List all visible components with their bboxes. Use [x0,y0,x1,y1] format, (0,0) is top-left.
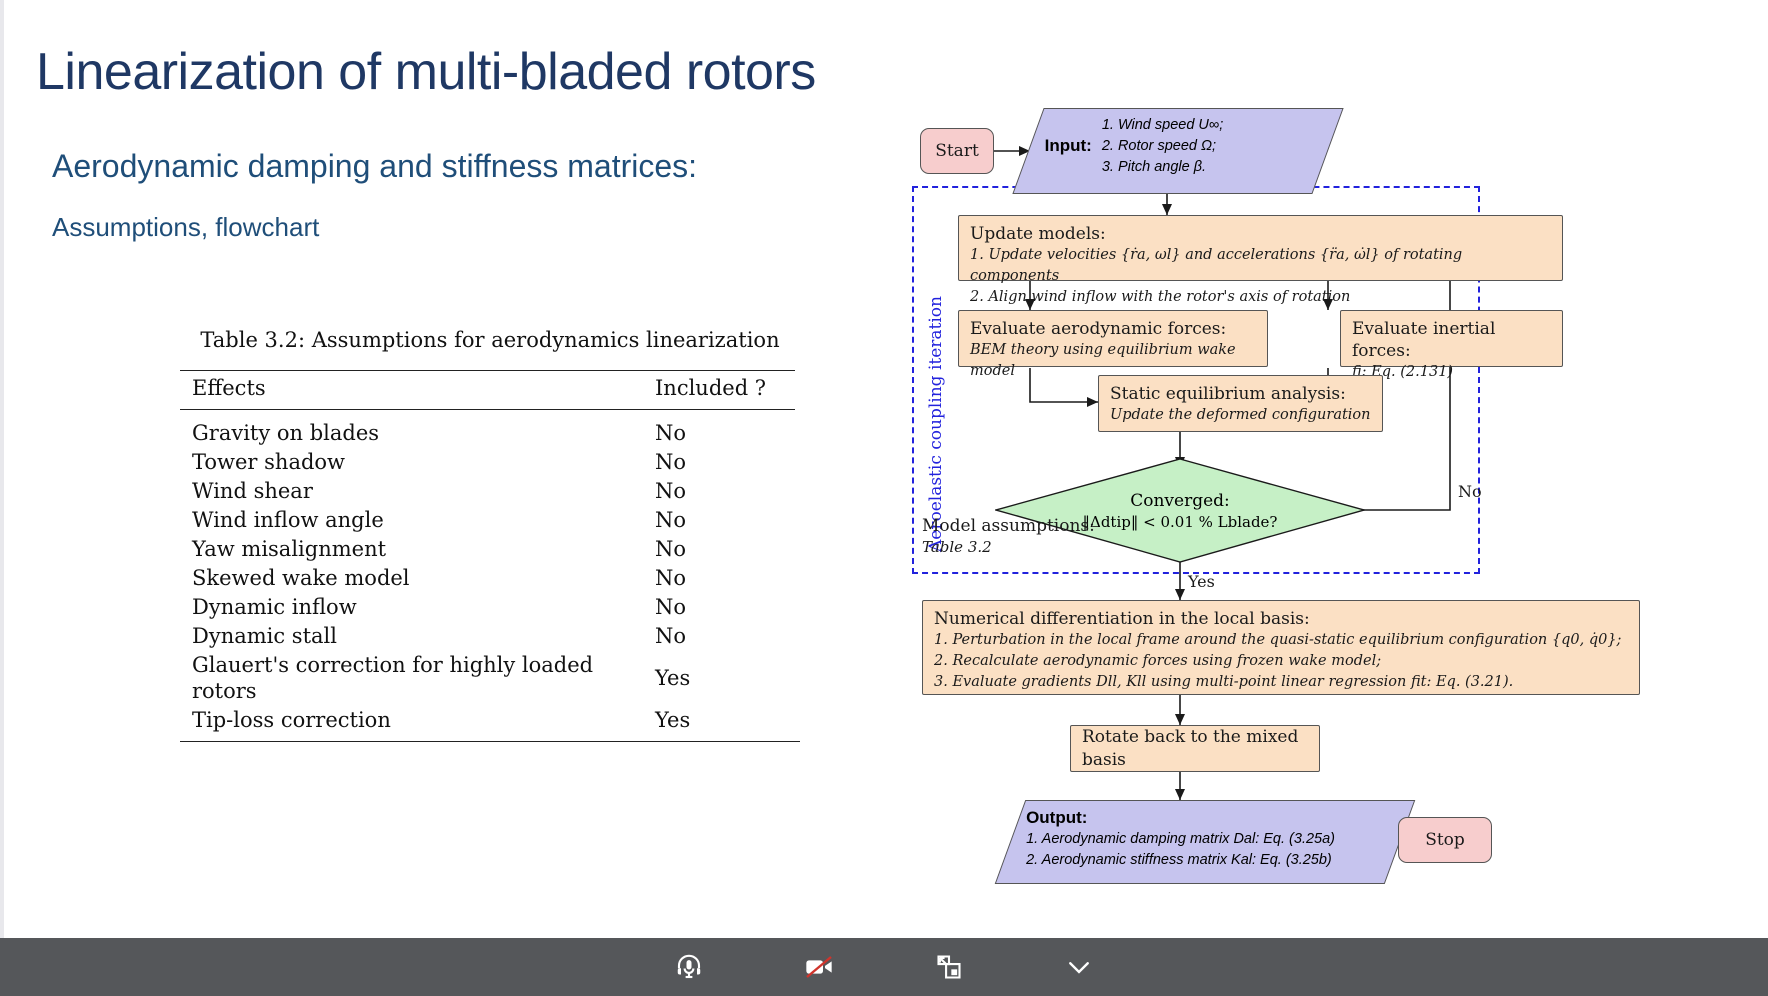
cell-effect: Wind inflow angle [180,506,655,535]
cell-included: Yes [655,651,795,706]
node-static-equilibrium-title: Static equilibrium analysis: [1110,383,1371,405]
node-numerical-differentiation-item: 1. Perturbation in the local frame aroun… [934,630,1628,651]
cell-included: No [655,477,795,506]
node-start-label: Start [935,140,979,162]
table-header-row: Effects Included ? [180,371,795,410]
cell-included: No [655,564,795,593]
table-row: Glauert's correction for highly loaded r… [180,651,795,706]
table-row: Dynamic inflow No [180,593,795,622]
node-output-item: 2. Aerodynamic stiffness matrix Kal: Eq.… [1026,850,1386,871]
cell-included: No [655,410,795,448]
column-header-included: Included ? [655,371,795,410]
model-assumptions-note: Model assumptions: Table 3.2 [922,515,1112,559]
node-update-models-item: 1. Update velocities {ṙa, ωl} and accele… [970,245,1551,287]
column-header-effects: Effects [180,371,655,410]
edge-label-yes: Yes [1188,572,1215,591]
subtitle-secondary: Assumptions, flowchart [52,212,319,243]
node-aerodynamic-forces[interactable]: Evaluate aerodynamic forces: BEM theory … [958,310,1268,367]
flowchart: Aeroelastic coupling iteration Start Inp… [930,100,1710,960]
node-aerodynamic-forces-title: Evaluate aerodynamic forces: [970,318,1256,340]
cell-effect: Gravity on blades [180,410,655,448]
node-input-title: Input: [1045,135,1092,157]
chevron-down-icon[interactable] [1060,948,1098,986]
node-inertial-forces[interactable]: Evaluate inertial forces: fi: Eq. (2.131… [1340,310,1563,367]
model-assumptions-title: Model assumptions: [922,515,1112,537]
node-numerical-differentiation-item: 2. Recalculate aerodynamic forces using … [934,651,1628,672]
assumptions-table: Effects Included ? Gravity on blades No … [180,370,795,741]
table-row: Dynamic stall No [180,622,795,651]
table-caption: Table 3.2: Assumptions for aerodynamics … [180,328,800,352]
camera-off-icon[interactable] [800,948,838,986]
node-output[interactable]: Output: 1. Aerodynamic damping matrix Da… [995,800,1416,884]
node-update-models-item: 2. Align wind inflow with the rotor's ax… [970,287,1551,308]
meeting-toolbar [0,938,1768,996]
cell-included: No [655,448,795,477]
microphone-headset-icon[interactable] [670,948,708,986]
node-static-equilibrium[interactable]: Static equilibrium analysis: Update the … [1098,375,1383,432]
aeroelastic-loop-label: Aeroelastic coupling iteration [926,296,946,552]
cell-effect: Tip-loss correction [180,706,655,742]
cell-included: No [655,506,795,535]
cell-effect: Dynamic stall [180,622,655,651]
cell-effect: Glauert's correction for highly loaded r… [180,651,655,706]
page-title: Linearization of multi-bladed rotors [36,42,816,102]
edge-label-no: No [1458,482,1482,501]
node-stop[interactable]: Stop [1398,817,1492,863]
share-screen-icon[interactable] [930,948,968,986]
model-assumptions-subtitle: Table 3.2 [922,537,1112,559]
table-bottom-rule [180,741,800,742]
node-numerical-differentiation-item: 3. Evaluate gradients Dll, Kll using mul… [934,672,1628,693]
node-input[interactable]: Input: 1. Wind speed U∞; 2. Rotor speed … [1012,108,1343,194]
node-static-equilibrium-subtitle: Update the deformed configuration [1110,405,1371,426]
slide-left-edge [0,0,4,940]
node-update-models[interactable]: Update models: 1. Update velocities {ṙa,… [958,215,1563,281]
slide-canvas: Linearization of multi-bladed rotors Aer… [0,0,1768,996]
cell-effect: Tower shadow [180,448,655,477]
node-input-item: 2. Rotor speed Ω; [1102,136,1223,157]
table-row: Tower shadow No [180,448,795,477]
cell-included: Yes [655,706,795,742]
node-output-title: Output: [1026,807,1386,829]
cell-included: No [655,622,795,651]
cell-effect: Dynamic inflow [180,593,655,622]
subtitle-primary: Aerodynamic damping and stiffness matric… [52,148,697,185]
table-row: Skewed wake model No [180,564,795,593]
table-row: Tip-loss correction Yes [180,706,795,742]
cell-included: No [655,535,795,564]
assumptions-table-block: Table 3.2: Assumptions for aerodynamics … [180,328,800,742]
table-row: Gravity on blades No [180,410,795,448]
cell-effect: Yaw misalignment [180,535,655,564]
node-rotate-back-label: Rotate back to the mixed basis [1082,726,1308,770]
node-output-item: 1. Aerodynamic damping matrix Dal: Eq. (… [1026,829,1386,850]
node-input-item: 3. Pitch angle β. [1102,157,1223,178]
node-rotate-back[interactable]: Rotate back to the mixed basis [1070,725,1320,772]
cell-effect: Skewed wake model [180,564,655,593]
node-numerical-differentiation[interactable]: Numerical differentiation in the local b… [922,600,1640,695]
table-row: Yaw misalignment No [180,535,795,564]
node-stop-label: Stop [1425,829,1465,851]
node-numerical-differentiation-title: Numerical differentiation in the local b… [934,608,1628,630]
table-body: Gravity on blades No Tower shadow No Win… [180,410,795,742]
cell-effect: Wind shear [180,477,655,506]
node-update-models-title: Update models: [970,223,1551,245]
table-row: Wind inflow angle No [180,506,795,535]
node-start[interactable]: Start [920,128,994,174]
cell-included: No [655,593,795,622]
node-input-item: 1. Wind speed U∞; [1102,115,1223,136]
table-row: Wind shear No [180,477,795,506]
node-inertial-forces-title: Evaluate inertial forces: [1352,318,1551,362]
